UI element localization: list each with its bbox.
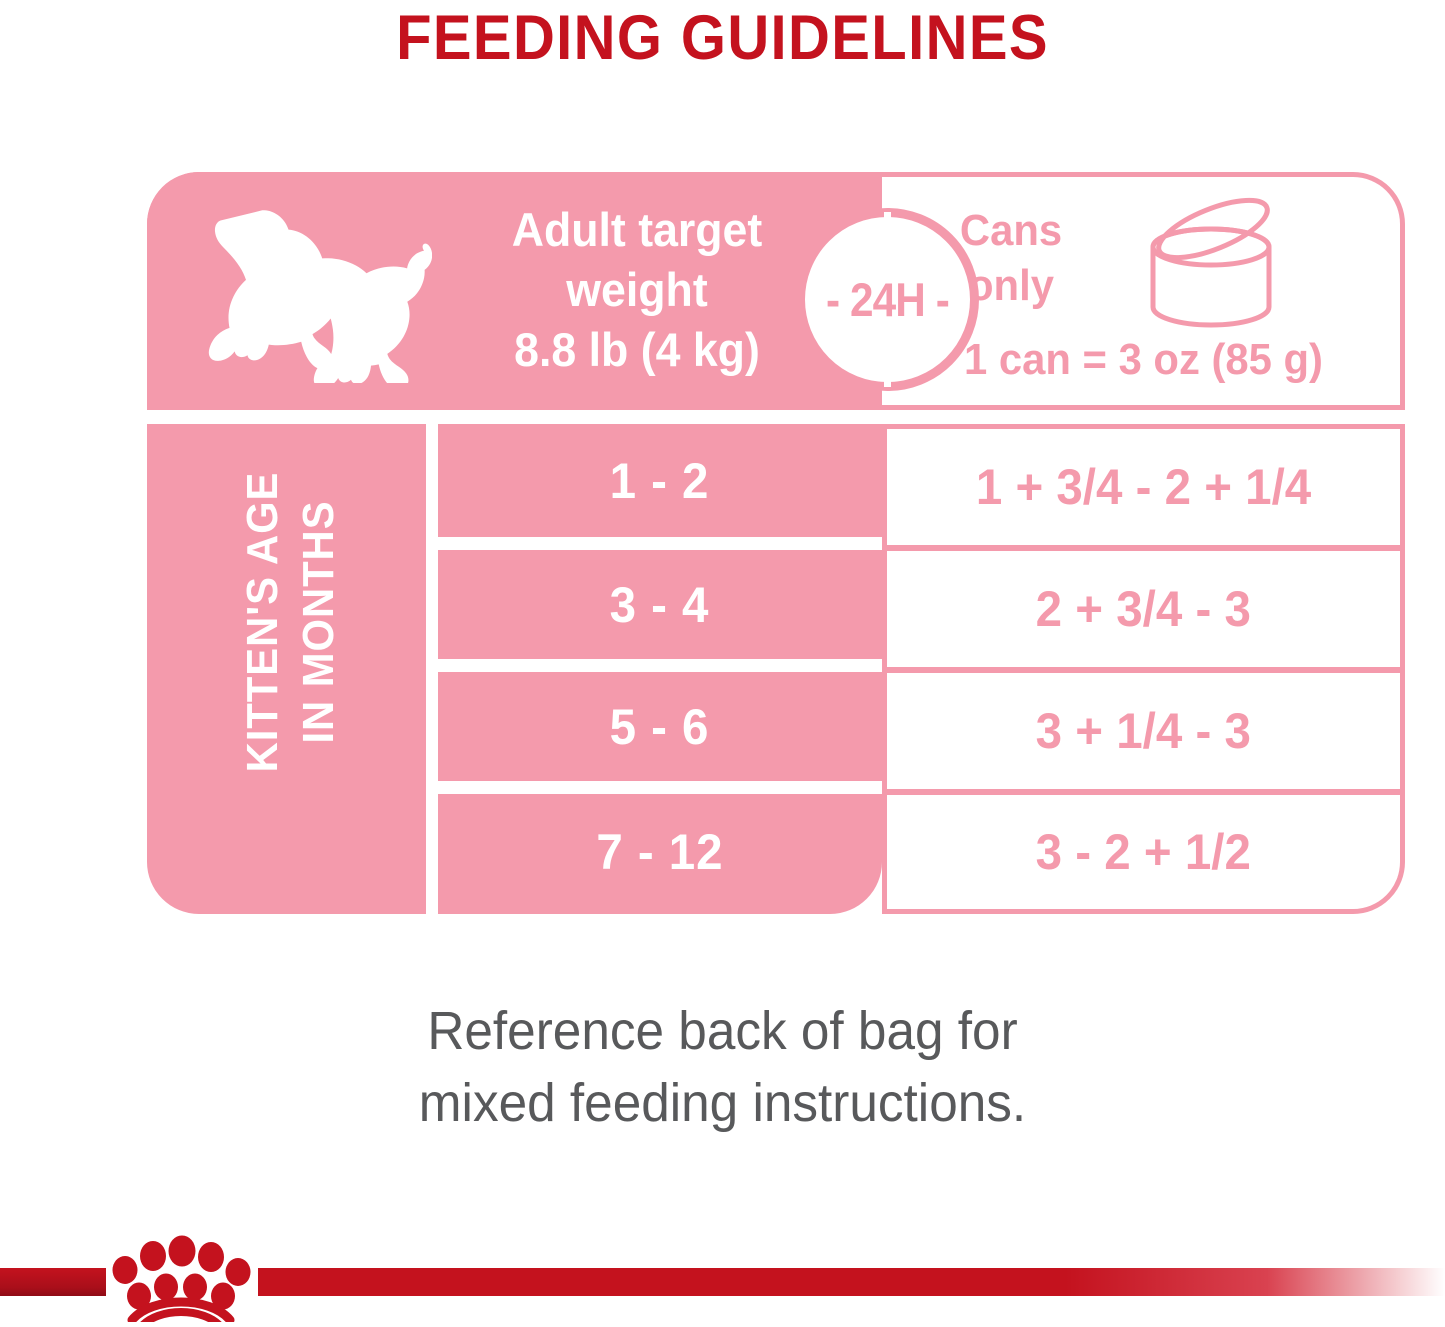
cans-value-1: 1 + 3/4 - 2 + 1/4 [976, 458, 1311, 516]
cans-value-4: 3 - 2 + 1/2 [1036, 823, 1251, 881]
cans-cell-row-2: 2 + 3/4 - 3 [882, 546, 1405, 672]
row-divider-1 [426, 537, 882, 550]
can-equivalence-label: 1 can = 3 oz (85 g) [895, 335, 1392, 385]
age-value-1: 1 - 2 [610, 452, 710, 510]
footer-note-line-2: mixed feeding instructions. [36, 1067, 1409, 1139]
adult-target-weight-label: Adult target weight 8.8 lb (4 kg) [447, 200, 827, 380]
age-cell-row-1: 1 - 2 [438, 424, 882, 537]
age-cell-row-2: 3 - 4 [438, 550, 882, 659]
row-divider-2 [426, 659, 882, 672]
row-divider-3 [426, 781, 882, 794]
cans-cell-row-1: 1 + 3/4 - 2 + 1/4 [882, 424, 1405, 550]
age-value-3: 5 - 6 [610, 698, 710, 756]
page-title: FEEDING GUIDELINES [58, 2, 1387, 74]
brand-bar-left-segment [0, 1268, 106, 1296]
footer-note-line-1: Reference back of bag for [36, 995, 1409, 1067]
cans-cell-row-4: 3 - 2 + 1/2 [882, 790, 1405, 914]
age-value-2: 3 - 4 [610, 576, 710, 634]
age-label-line-1: KITTEN'S AGE [235, 404, 291, 841]
clock-tick-top [884, 212, 891, 231]
brand-bar-right-segment [258, 1268, 1445, 1296]
royal-canin-crown-icon [96, 1234, 266, 1322]
atw-line-3: 8.8 lb (4 kg) [447, 320, 827, 380]
cans-value-3: 3 + 1/4 - 3 [1036, 702, 1251, 760]
open-can-icon [1127, 189, 1292, 344]
clock-tick-bottom [884, 368, 891, 387]
cans-value-2: 2 + 3/4 - 3 [1036, 580, 1251, 638]
clock-24h-label: - 24H - [813, 274, 962, 326]
clock-24h-icon: - 24H - [796, 208, 979, 391]
walking-kitten-icon [182, 208, 432, 383]
cans-cell-row-3: 3 + 1/4 - 3 [882, 668, 1405, 794]
age-value-4: 7 - 12 [596, 823, 723, 881]
atw-line-1: Adult target [447, 200, 827, 260]
kittens-age-in-months-label: KITTEN'S AGE IN MONTHS [235, 404, 347, 841]
age-cell-row-4: 7 - 12 [438, 794, 882, 909]
age-cell-row-3: 5 - 6 [438, 672, 882, 781]
footer-note: Reference back of bag for mixed feeding … [36, 995, 1409, 1139]
age-label-line-2: IN MONTHS [291, 404, 347, 841]
atw-line-2: weight [447, 260, 827, 320]
feeding-guidelines-table: Adult target weight 8.8 lb (4 kg) - 24H … [147, 172, 1405, 914]
